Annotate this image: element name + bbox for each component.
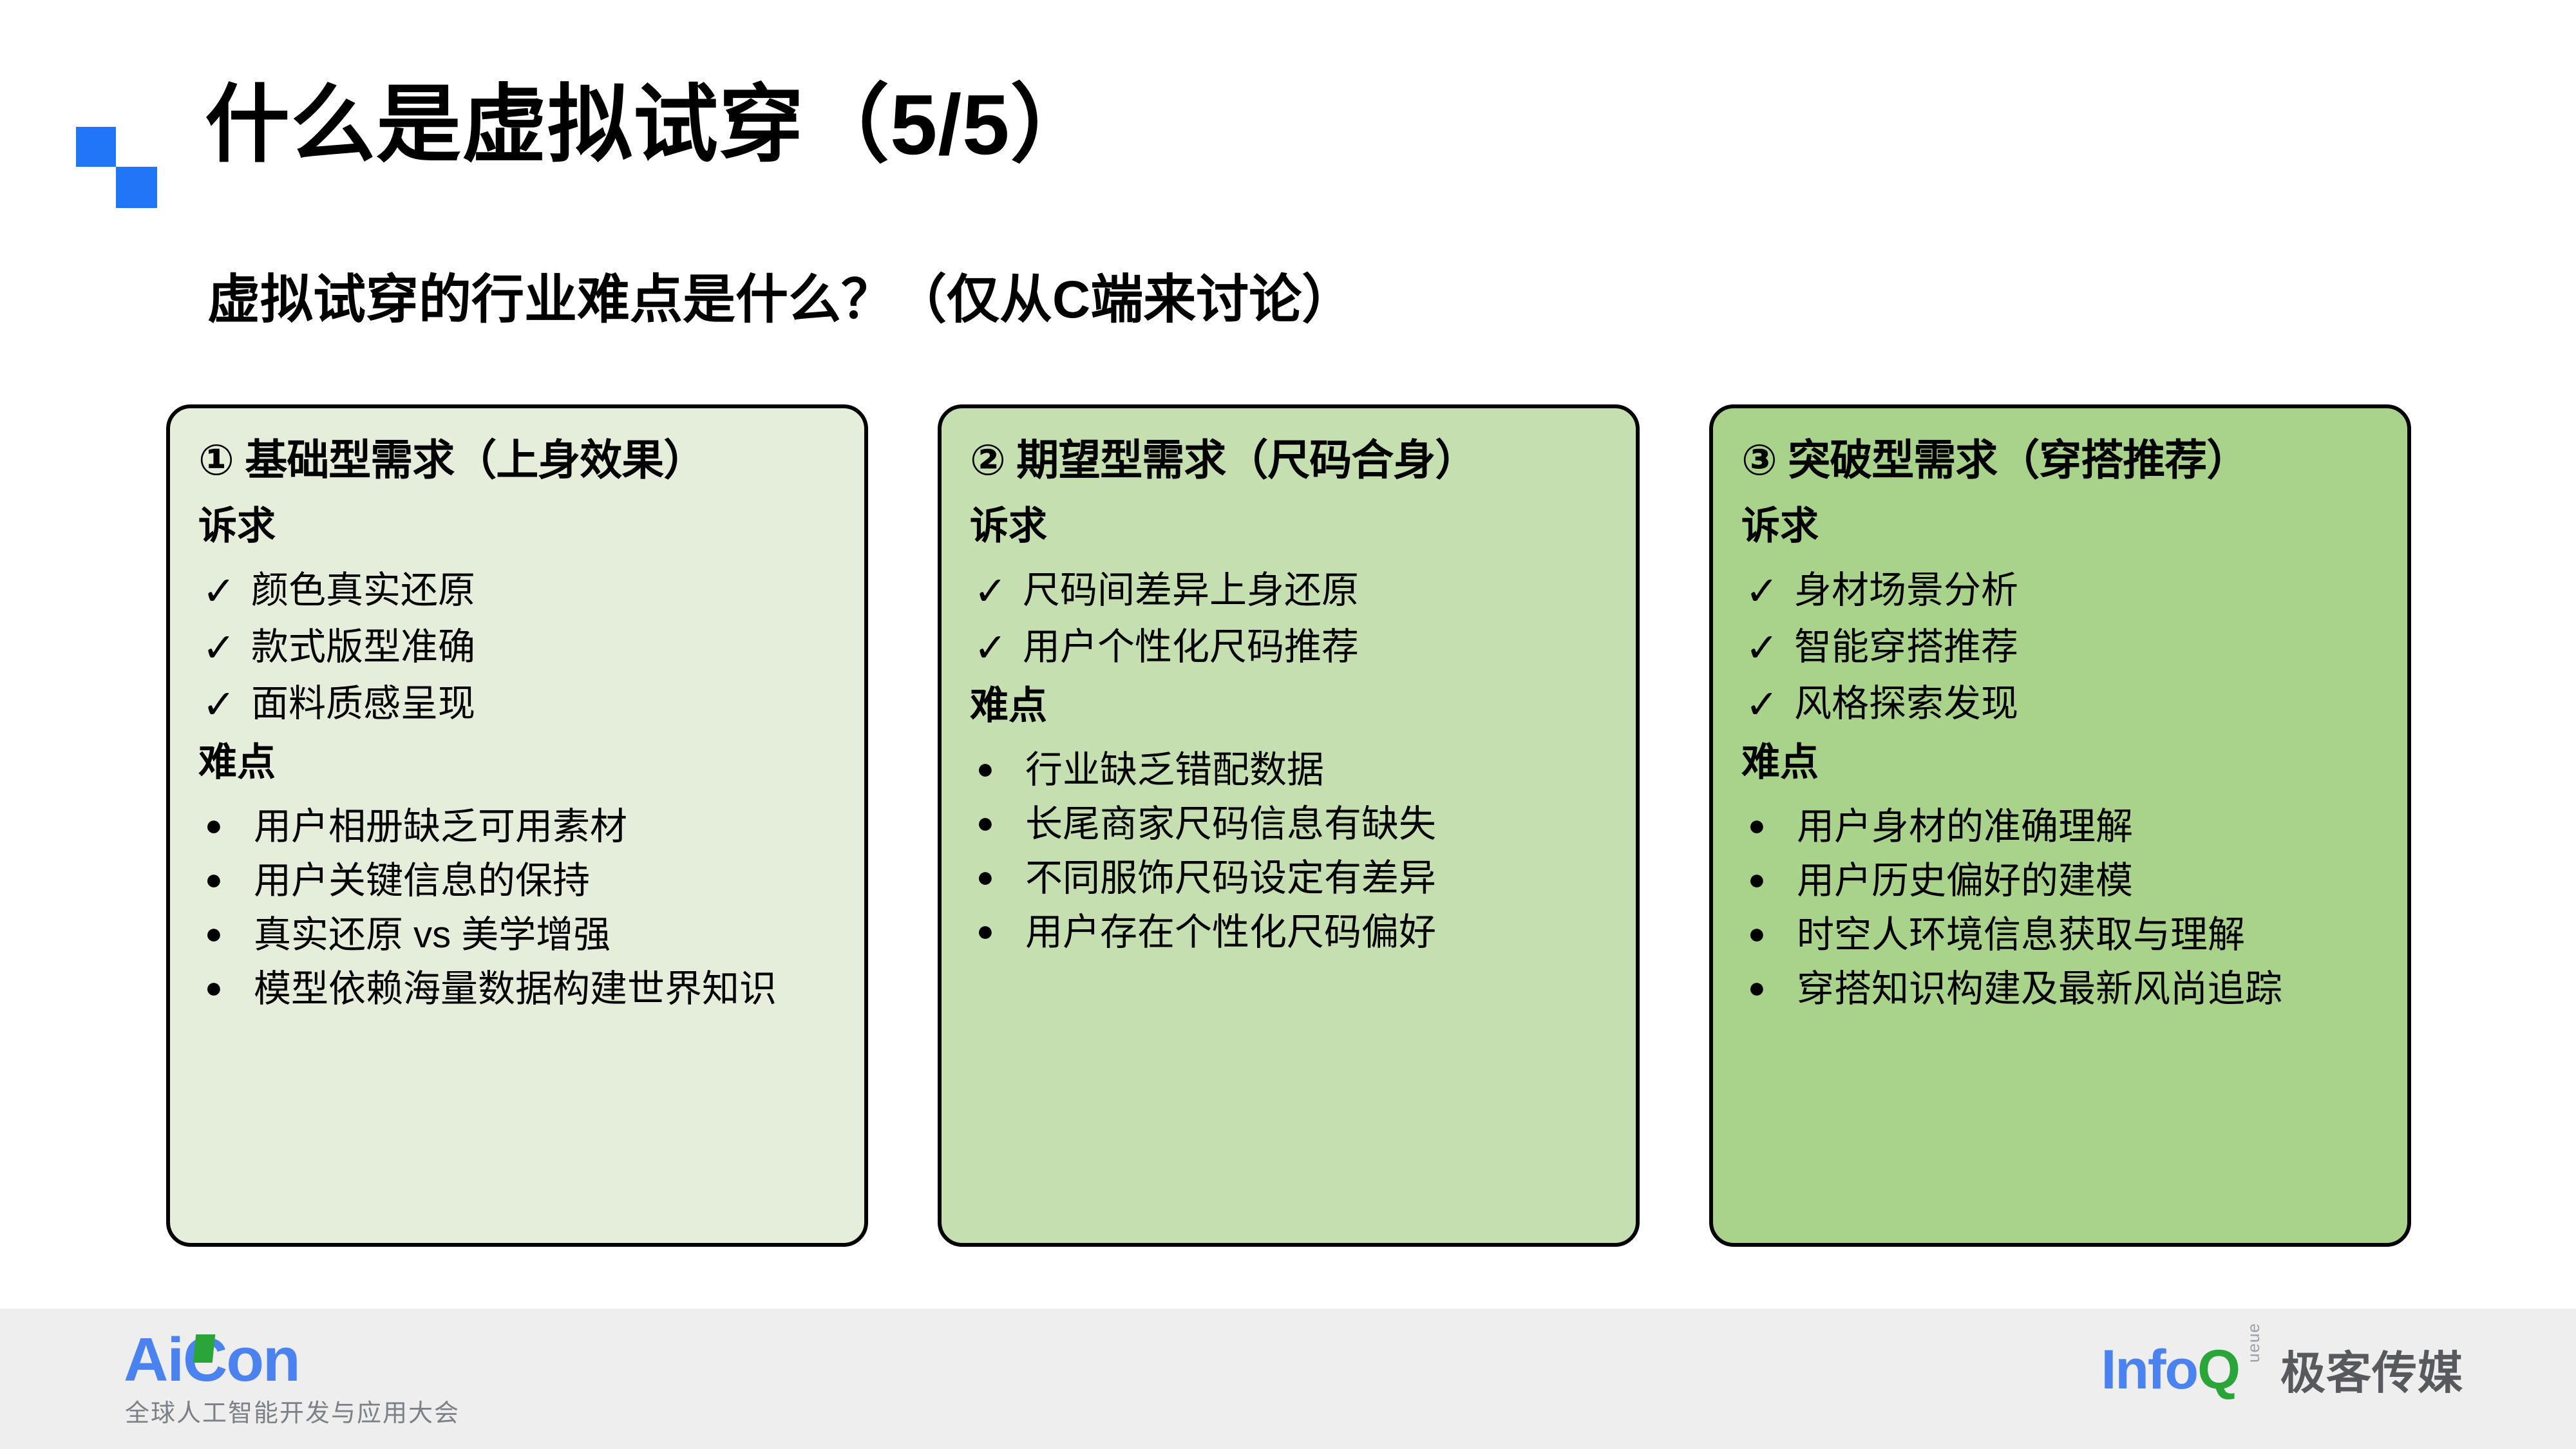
list-item-label: 真实还原 vs 美学增强 <box>254 916 838 954</box>
list-item: ● 穿搭知识构建及最新风尚追踪 <box>1741 971 2382 1008</box>
bullet-icon: ● <box>1741 810 1797 840</box>
list-item: ✓ 用户个性化尺码推荐 <box>970 629 1610 668</box>
page-subtitle: 虚拟试穿的行业难点是什么？（仅从C端来讨论） <box>207 274 1354 327</box>
slide-footer: AiCon 全球人工智能开发与应用大会 Info Q ueue 极客传媒 <box>0 1309 2576 1449</box>
slide-header: 什么是虚拟试穿（5/5） 虚拟试穿的行业难点是什么？（仅从C端来讨论） <box>0 0 2576 245</box>
check-icon: ✓ <box>970 572 1023 612</box>
list-item: ● 用户存在个性化尺码偏好 <box>970 914 1610 951</box>
requirement-card-breakthrough: ③ 突破型需求（穿搭推荐） 诉求 ✓ 身材场景分析 ✓ 智能穿搭推荐 ✓ 风格探… <box>1709 404 2411 1247</box>
list-item: ✓ 面料质感呈现 <box>198 685 838 725</box>
card-title: ③ 突破型需求（穿搭推荐） <box>1741 438 2382 482</box>
list-item: ● 用户身材的准确理解 <box>1741 808 2382 846</box>
list-item-label: 用户存在个性化尺码偏好 <box>1025 914 1610 951</box>
difficulty-section-label: 难点 <box>970 685 1610 726</box>
check-icon: ✓ <box>1741 572 1794 612</box>
list-item: ● 用户关键信息的保持 <box>198 862 838 900</box>
list-item-label: 用户历史偏好的建模 <box>1797 862 2382 900</box>
list-item: ● 模型依赖海量数据构建世界知识 <box>198 971 838 1008</box>
list-item-label: 行业缺乏错配数据 <box>1025 752 1610 789</box>
bullet-icon: ● <box>198 864 254 894</box>
list-item-label: 时空人环境信息获取与理解 <box>1797 916 2382 954</box>
difficulty-section-label: 难点 <box>198 742 838 782</box>
list-item-label: 不同服饰尺码设定有差异 <box>1025 860 1610 897</box>
demand-section-label: 诉求 <box>198 506 838 546</box>
difficulty-section-label: 难点 <box>1741 742 2382 782</box>
list-item: ● 真实还原 vs 美学增强 <box>198 916 838 954</box>
bullet-icon: ● <box>970 862 1025 891</box>
aicon-green-dot-icon <box>193 1334 216 1363</box>
infoq-media-text: 极客传媒 <box>2280 1350 2463 1396</box>
check-icon: ✓ <box>1741 685 1794 725</box>
two-squares-mark-icon <box>76 127 157 208</box>
infoq-ueue-text: ueue <box>2244 1323 2264 1363</box>
list-item: ✓ 款式版型准确 <box>198 629 838 668</box>
aicon-logo: AiCon 全球人工智能开发与应用大会 <box>124 1329 484 1432</box>
list-item-label: 颜色真实还原 <box>251 572 838 609</box>
infoq-q-text: Q <box>2197 1342 2240 1397</box>
list-item: ● 不同服饰尺码设定有差异 <box>970 860 1610 897</box>
aicon-tagline: 全球人工智能开发与应用大会 <box>125 1401 460 1426</box>
bullet-icon: ● <box>1741 972 1797 1002</box>
requirement-cards-row: ① 基础型需求（上身效果） 诉求 ✓ 颜色真实还原 ✓ 款式版型准确 ✓ 面料质… <box>166 404 2411 1247</box>
card-title: ② 期望型需求（尺码合身） <box>970 438 1610 482</box>
infoq-logo: Info Q ueue 极客传媒 <box>2101 1342 2463 1413</box>
page-title: 什么是虚拟试穿（5/5） <box>205 82 1096 167</box>
logo-square-top-left <box>76 127 116 167</box>
list-item-label: 用户相册缺乏可用素材 <box>254 808 838 846</box>
list-item-label: 尺码间差异上身还原 <box>1023 572 1610 609</box>
difficulty-list: ● 用户身材的准确理解 ● 用户历史偏好的建模 ● 时空人环境信息获取与理解 ●… <box>1741 791 2382 1008</box>
list-item: ✓ 身材场景分析 <box>1741 572 2382 612</box>
list-item: ● 用户相册缺乏可用素材 <box>198 808 838 846</box>
requirement-card-expected: ② 期望型需求（尺码合身） 诉求 ✓ 尺码间差异上身还原 ✓ 用户个性化尺码推荐… <box>938 404 1640 1247</box>
check-icon: ✓ <box>1741 629 1794 668</box>
list-item: ● 行业缺乏错配数据 <box>970 752 1610 789</box>
logo-square-bottom-right <box>116 167 157 208</box>
bullet-icon: ● <box>970 753 1025 783</box>
check-icon: ✓ <box>198 685 251 725</box>
difficulty-list: ● 行业缺乏错配数据 ● 长尾商家尺码信息有缺失 ● 不同服饰尺码设定有差异 ●… <box>970 735 1610 951</box>
list-item: ● 时空人环境信息获取与理解 <box>1741 916 2382 954</box>
list-item-label: 智能穿搭推荐 <box>1794 629 2382 666</box>
list-item-label: 身材场景分析 <box>1794 572 2382 609</box>
bullet-icon: ● <box>198 918 254 948</box>
list-item: ✓ 智能穿搭推荐 <box>1741 629 2382 668</box>
demand-list: ✓ 尺码间差异上身还原 ✓ 用户个性化尺码推荐 <box>970 555 1610 668</box>
requirement-card-basic: ① 基础型需求（上身效果） 诉求 ✓ 颜色真实还原 ✓ 款式版型准确 ✓ 面料质… <box>166 404 868 1247</box>
list-item-label: 长尾商家尺码信息有缺失 <box>1025 806 1610 843</box>
list-item-label: 穿搭知识构建及最新风尚追踪 <box>1797 971 2382 1008</box>
bullet-icon: ● <box>1741 864 1797 894</box>
list-item: ✓ 颜色真实还原 <box>198 572 838 612</box>
demand-section-label: 诉求 <box>1741 506 2382 546</box>
list-item-label: 面料质感呈现 <box>251 685 838 723</box>
list-item-label: 风格探索发现 <box>1794 685 2382 723</box>
bullet-icon: ● <box>1741 918 1797 948</box>
bullet-icon: ● <box>970 916 1025 945</box>
difficulty-list: ● 用户相册缺乏可用素材 ● 用户关键信息的保持 ● 真实还原 vs 美学增强 … <box>198 791 838 1008</box>
demand-list: ✓ 颜色真实还原 ✓ 款式版型准确 ✓ 面料质感呈现 <box>198 555 838 725</box>
list-item-label: 款式版型准确 <box>251 629 838 666</box>
check-icon: ✓ <box>198 629 251 668</box>
list-item-label: 用户个性化尺码推荐 <box>1023 629 1610 666</box>
bullet-icon: ● <box>970 808 1025 837</box>
infoq-info-text: Info <box>2101 1342 2197 1397</box>
bullet-icon: ● <box>198 810 254 840</box>
check-icon: ✓ <box>970 629 1023 668</box>
demand-section-label: 诉求 <box>970 506 1610 546</box>
demand-list: ✓ 身材场景分析 ✓ 智能穿搭推荐 ✓ 风格探索发现 <box>1741 555 2382 725</box>
list-item-label: 用户身材的准确理解 <box>1797 808 2382 846</box>
list-item-label: 模型依赖海量数据构建世界知识 <box>254 971 838 1008</box>
list-item-label: 用户关键信息的保持 <box>254 862 838 900</box>
list-item: ✓ 尺码间差异上身还原 <box>970 572 1610 612</box>
list-item: ✓ 风格探索发现 <box>1741 685 2382 725</box>
list-item: ● 用户历史偏好的建模 <box>1741 862 2382 900</box>
list-item: ● 长尾商家尺码信息有缺失 <box>970 806 1610 843</box>
bullet-icon: ● <box>198 972 254 1002</box>
card-title: ① 基础型需求（上身效果） <box>198 438 838 482</box>
check-icon: ✓ <box>198 572 251 612</box>
